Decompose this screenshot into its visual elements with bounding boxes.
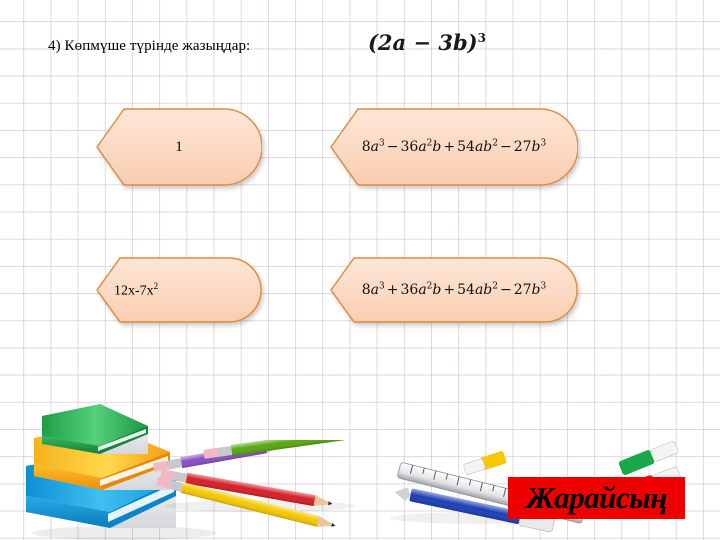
feedback-banner: Жарайсың: [508, 477, 685, 519]
page-title: 4) Көпмүше түрінде жазыңдар:: [48, 38, 250, 55]
answer-option-3-label: 12x-7x2: [96, 281, 262, 300]
feedback-banner-text: Жарайсың: [508, 477, 685, 519]
answer-option-1[interactable]: 1: [96, 108, 262, 186]
answer-option-2-math: 8a3−36a2b+54ab2−27b3: [362, 139, 547, 155]
answer-option-4-label: 8a3+36a2b+54ab2−27b3: [330, 281, 578, 299]
answer-option-4-math: 8a3+36a2b+54ab2−27b3: [362, 282, 547, 298]
question-formula-base: (2a − 3b): [368, 30, 478, 55]
answer-option-3[interactable]: 12x-7x2: [96, 257, 262, 323]
answer-option-4[interactable]: 8a3+36a2b+54ab2−27b3: [330, 257, 578, 323]
slide-canvas: 4) Көпмүше түрінде жазыңдар: (2a − 3b)3 …: [0, 0, 720, 540]
question-formula: (2a − 3b)3: [368, 30, 486, 55]
answer-option-3-exponent: 2: [154, 281, 159, 291]
answer-option-3-base: 12x-7x: [114, 283, 154, 298]
answer-option-2-label: 8a3−36a2b+54ab2−27b3: [330, 138, 578, 156]
answer-option-1-label: 1: [96, 139, 262, 156]
question-formula-exponent: 3: [478, 31, 486, 45]
answer-option-2[interactable]: 8a3−36a2b+54ab2−27b3: [330, 108, 578, 186]
